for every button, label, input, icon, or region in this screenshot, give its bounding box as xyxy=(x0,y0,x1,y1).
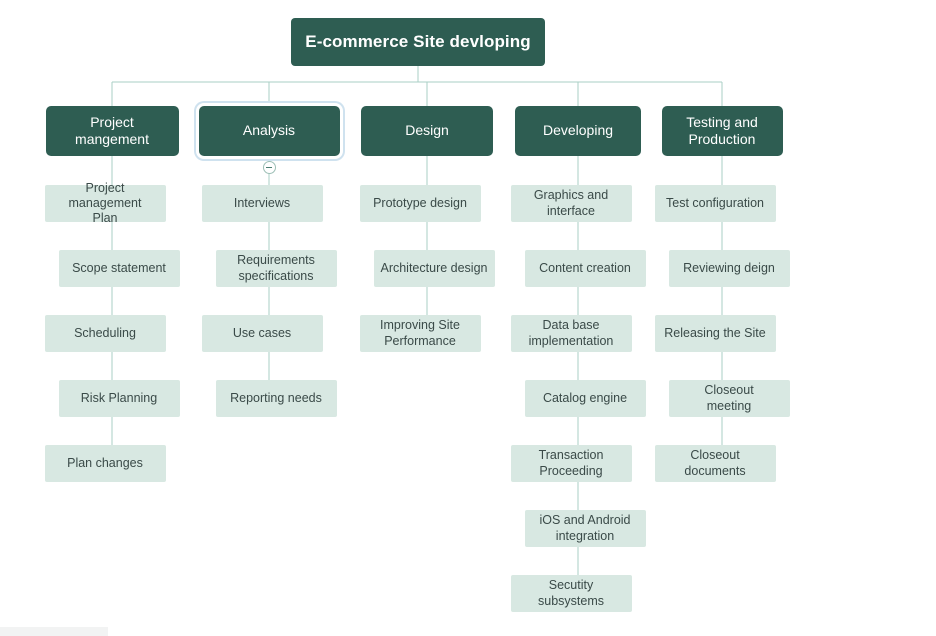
leaf-node-catalog-engine[interactable]: Catalog engine xyxy=(525,380,646,417)
leaf-node-risk-planning[interactable]: Risk Planning xyxy=(59,380,180,417)
leaf-node-project-management-plan[interactable]: Project management Plan xyxy=(45,185,166,222)
leaf-node-releasing-the-site[interactable]: Releasing the Site xyxy=(655,315,776,352)
branch-node-design[interactable]: Design xyxy=(361,106,493,156)
mindmap-canvas: E-commerce Site devlopingProject mangeme… xyxy=(0,0,936,636)
collapse-toggle-analysis[interactable] xyxy=(263,161,276,174)
leaf-node-reporting-needs[interactable]: Reporting needs xyxy=(216,380,337,417)
root-node[interactable]: E-commerce Site devloping xyxy=(291,18,545,66)
leaf-node-closeout-meeting[interactable]: Closeout meeting xyxy=(669,380,790,417)
minus-icon xyxy=(266,167,272,168)
leaf-node-data-base-implementation[interactable]: Data base implementation xyxy=(511,315,632,352)
leaf-node-architecture-design[interactable]: Architecture design xyxy=(374,250,495,287)
leaf-node-use-cases[interactable]: Use cases xyxy=(202,315,323,352)
leaf-node-interviews[interactable]: Interviews xyxy=(202,185,323,222)
viewport-edge-band xyxy=(0,627,108,636)
leaf-node-scheduling[interactable]: Scheduling xyxy=(45,315,166,352)
leaf-node-scope-statement[interactable]: Scope statement xyxy=(59,250,180,287)
leaf-node-secutity-subsystems[interactable]: Secutity subsystems xyxy=(511,575,632,612)
leaf-node-requirements-specifications[interactable]: Requirements specifications xyxy=(216,250,337,287)
leaf-node-test-configuration[interactable]: Test configuration xyxy=(655,185,776,222)
leaf-node-ios-and-android-integration[interactable]: iOS and Android integration xyxy=(525,510,646,547)
leaf-node-prototype-design[interactable]: Prototype design xyxy=(360,185,481,222)
leaf-node-closeout-documents[interactable]: Closeout documents xyxy=(655,445,776,482)
branch-node-analysis[interactable]: Analysis xyxy=(199,106,340,156)
node-layer: E-commerce Site devlopingProject mangeme… xyxy=(0,0,936,636)
leaf-node-plan-changes[interactable]: Plan changes xyxy=(45,445,166,482)
leaf-node-graphics-and-interface[interactable]: Graphics and interface xyxy=(511,185,632,222)
branch-node-project-mangement[interactable]: Project mangement xyxy=(46,106,179,156)
leaf-node-improving-site-performance[interactable]: Improving Site Performance xyxy=(360,315,481,352)
branch-node-developing[interactable]: Developing xyxy=(515,106,641,156)
leaf-node-transaction-proceeding[interactable]: Transaction Proceeding xyxy=(511,445,632,482)
branch-node-testing-and-production[interactable]: Testing and Production xyxy=(662,106,783,156)
leaf-node-reviewing-deign[interactable]: Reviewing deign xyxy=(669,250,790,287)
leaf-node-content-creation[interactable]: Content creation xyxy=(525,250,646,287)
